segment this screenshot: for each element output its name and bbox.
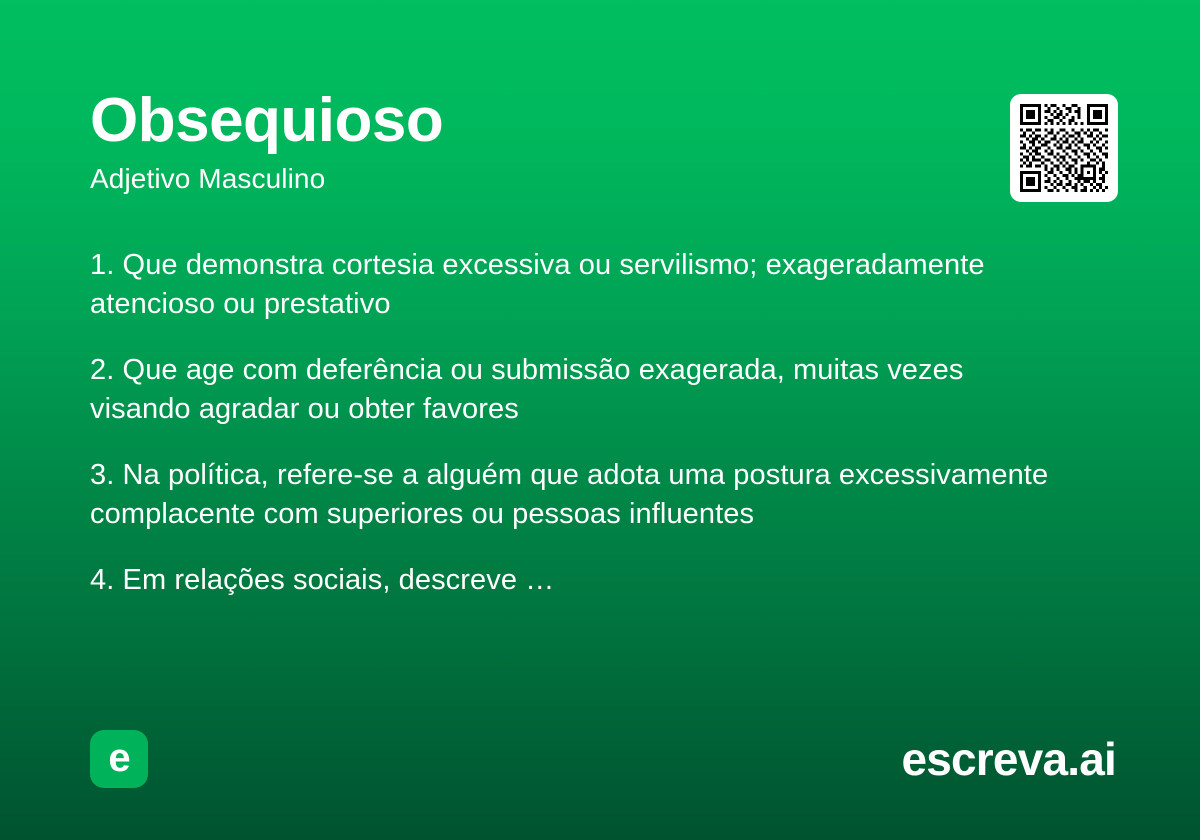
brand-logo[interactable]: e	[90, 730, 148, 788]
word-class-label: Adjetivo Masculino	[90, 162, 970, 196]
qr-code-icon	[1020, 104, 1108, 192]
definition-list: 1. Que demonstra cortesia excessiva ou s…	[90, 246, 1050, 600]
qr-code-card[interactable]	[1010, 94, 1118, 202]
card-header: Obsequioso Adjetivo Masculino	[90, 86, 970, 196]
dictionary-card: Obsequioso Adjetivo Masculino	[0, 0, 1200, 840]
definition-item: 4. Em relações sociais, descreve …	[90, 561, 1050, 600]
brand-logo-letter: e	[108, 738, 129, 778]
brand-wordmark[interactable]: escreva.ai	[901, 732, 1116, 786]
card-footer: e escreva.ai	[0, 730, 1200, 788]
definition-item: 2. Que age com deferência ou submissão e…	[90, 351, 1050, 429]
definition-item: 1. Que demonstra cortesia excessiva ou s…	[90, 246, 1050, 324]
page-title: Obsequioso	[90, 86, 970, 156]
definition-item: 3. Na política, refere-se a alguém que a…	[90, 456, 1050, 534]
